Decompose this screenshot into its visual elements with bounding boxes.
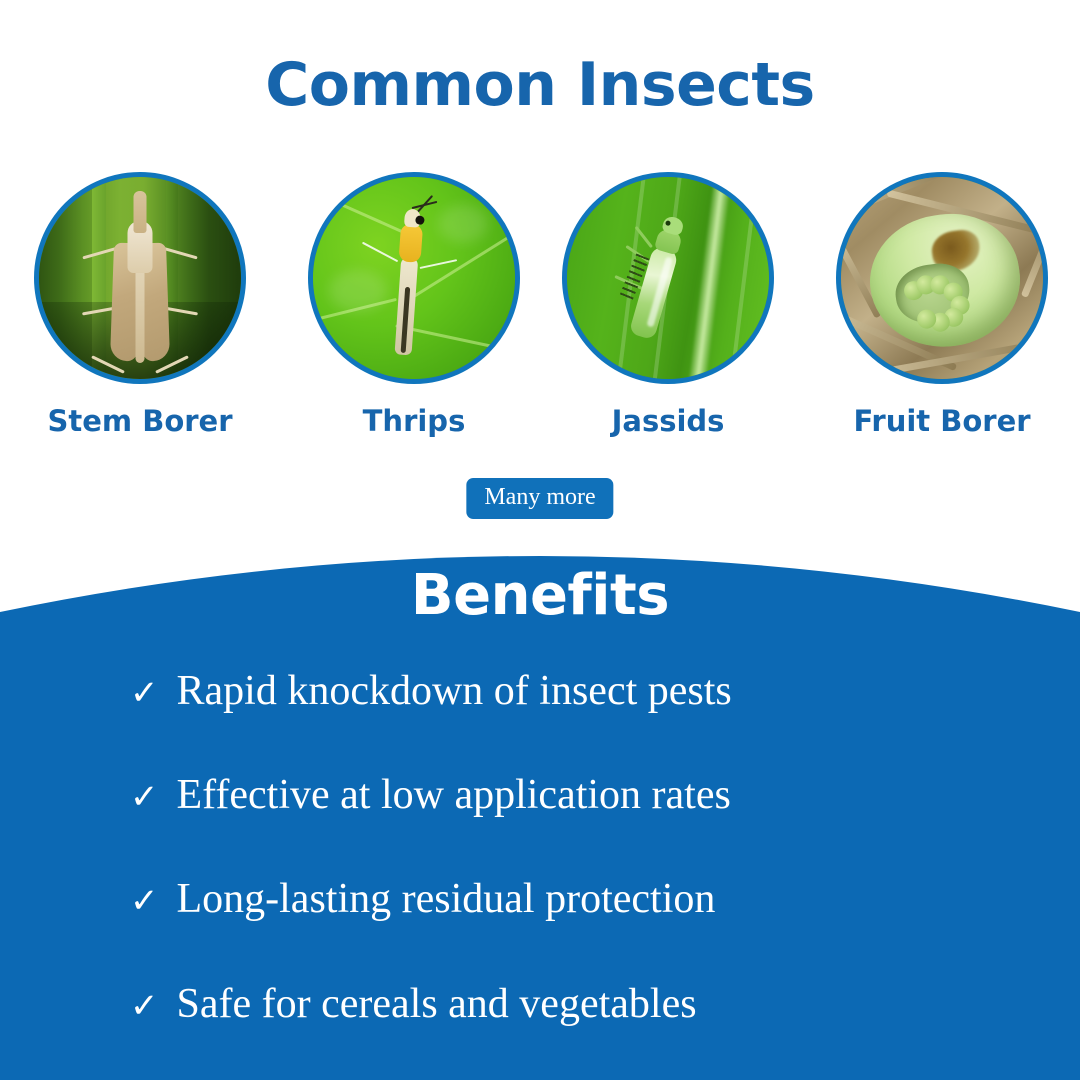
jassid-eye: [665, 220, 671, 226]
benefits-section: Benefits ✓ Rapid knockdown of insect pes…: [0, 568, 1080, 1080]
benefit-text: Long-lasting residual protection: [177, 876, 716, 922]
benefit-text: Rapid knockdown of insect pests: [177, 668, 732, 714]
check-icon: ✓: [130, 990, 159, 1024]
benefits-title: Benefits: [0, 568, 1080, 624]
check-icon: ✓: [130, 677, 159, 711]
insect-photo-fruit-borer: [836, 172, 1048, 384]
moth-head: [134, 191, 147, 233]
page-title: Common Insects: [0, 54, 1080, 117]
insect-card-fruit-borer[interactable]: Fruit Borer: [834, 172, 1050, 438]
leaf-ridge: [725, 177, 761, 379]
benefit-item: ✓ Effective at low application rates: [0, 772, 1080, 818]
benefit-text: Safe for cereals and vegetables: [177, 981, 697, 1027]
insect-label-jassids: Jassids: [560, 404, 776, 438]
leaf-highlight: [329, 270, 387, 312]
many-more-badge[interactable]: Many more: [466, 478, 613, 519]
fruit-borer-image: [841, 177, 1043, 379]
thrips-image: [313, 177, 515, 379]
thrips-thorax: [398, 224, 423, 263]
insect-photo-stem-borer: [34, 172, 246, 384]
stem-borer-image: [39, 177, 241, 379]
leaf-midrib: [684, 177, 734, 379]
jassids-image: [567, 177, 769, 379]
moth-shape: [112, 191, 168, 371]
insect-card-thrips[interactable]: Thrips: [306, 172, 522, 438]
check-icon: ✓: [130, 885, 159, 919]
benefit-item: ✓ Safe for cereals and vegetables: [0, 981, 1080, 1027]
thrips-shape: [387, 208, 429, 358]
thrips-eye: [415, 216, 425, 226]
benefit-item: ✓ Rapid knockdown of insect pests: [0, 668, 1080, 714]
insect-label-thrips: Thrips: [306, 404, 522, 438]
insect-card-jassids[interactable]: Jassids: [560, 172, 776, 438]
benefit-text: Effective at low application rates: [177, 772, 731, 818]
insect-card-stem-borer[interactable]: Stem Borer: [32, 172, 248, 438]
insect-photo-thrips: [308, 172, 520, 384]
insect-gallery: Stem Borer: [0, 172, 1080, 452]
thrips-wing-hair: [362, 242, 398, 263]
caterpillar-shape: [902, 268, 987, 336]
insect-label-stem-borer: Stem Borer: [32, 404, 248, 438]
straw-piece: [1020, 209, 1043, 298]
benefit-item: ✓ Long-lasting residual protection: [0, 876, 1080, 922]
insecticide-product-poster: Common Insects: [0, 0, 1080, 1080]
check-icon: ✓: [130, 781, 159, 815]
thrips-wing-hair: [420, 259, 458, 269]
insect-photo-jassids: [562, 172, 774, 384]
benefits-list: ✓ Rapid knockdown of insect pests ✓ Effe…: [0, 668, 1080, 1027]
insect-label-fruit-borer: Fruit Borer: [834, 404, 1050, 438]
jassid-shape: [623, 213, 692, 344]
leaf-highlight: [438, 205, 488, 243]
